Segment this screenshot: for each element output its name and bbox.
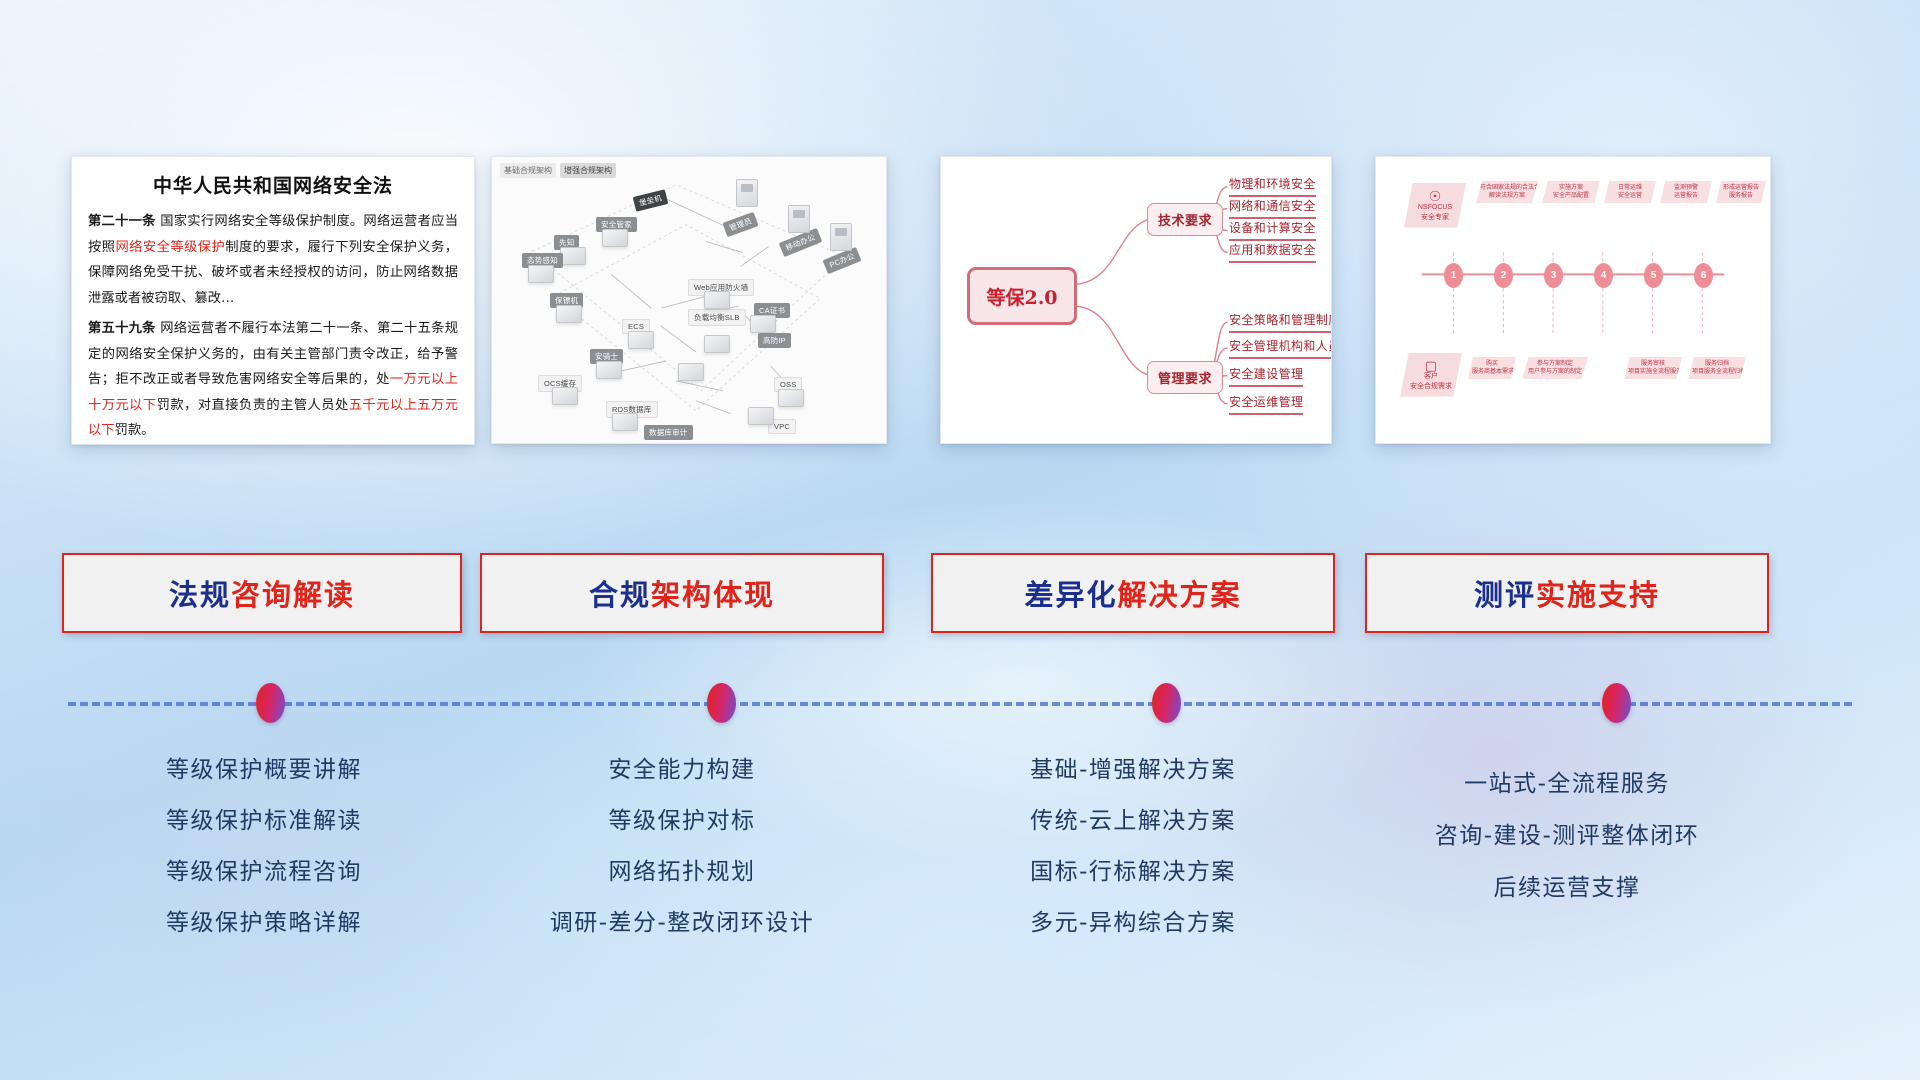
cloud-architecture-diagram: 基础合规架构 增强合规架构 — [492, 157, 886, 443]
list-item: 调研-差分-整改闭环设计 — [480, 898, 884, 949]
icon-cube — [704, 291, 730, 309]
node-anti-ddos-ip: 高防IP — [758, 333, 791, 348]
list-item: 等级保护策略详解 — [62, 898, 466, 949]
title-box-differentiated-solutions[interactable]: 差异化解决方案 — [931, 553, 1335, 633]
title-prefix: 差异化 — [1024, 578, 1117, 612]
icon-cube — [528, 265, 554, 283]
icon-server — [788, 205, 810, 233]
chip-label: 运营报告 — [1664, 192, 1708, 200]
list-item: 网络拓扑规划 — [480, 847, 884, 898]
thumbnail-card-nsfocus-timeline[interactable]: ☉ NSFOCUS 安全专家 符合国家法规的合法合规 解读法规方案 实施方案 安… — [1375, 156, 1771, 444]
chip-label: 安全产品配置 — [1546, 192, 1596, 200]
mindmap-leaf: 安全策略和管理制度 — [1229, 311, 1332, 333]
icon-cube — [612, 413, 638, 431]
list-item: 传统-云上解决方案 — [931, 796, 1335, 847]
law-article-21-label: 第二十一条 — [88, 214, 156, 229]
law-article-21-highlight: 网络安全等级保护 — [115, 240, 225, 255]
law-article-59: 第五十九条 网络运营者不履行本法第二十一条、第二十五条规定的网络安全保护义务的，… — [88, 316, 458, 444]
timeline-step-marker-6: 6 — [1694, 263, 1713, 288]
chip-label: 解读法规方案 — [1480, 192, 1534, 200]
mindmap-leaf: 设备和计算安全 — [1229, 219, 1316, 241]
infographic-stage: 中华人民共和国网络安全法 第二十一条 国家实行网络安全等级保护制度。网络运营者应… — [0, 0, 1920, 1080]
list-item: 咨询-建设-测评整体闭环 — [1365, 810, 1769, 862]
chip-tiny: 项目实施全流程服务跟踪 — [1628, 368, 1678, 376]
chip-service-archive: 服务归档 项目服务全流程归档管理 — [1688, 357, 1746, 379]
timeline-step-marker-5: 5 — [1644, 263, 1663, 288]
icon-cube — [748, 407, 774, 425]
list-item: 等级保护对标 — [480, 796, 884, 847]
icon-cube — [750, 315, 776, 333]
bullet-list-assessment-support: 一站式-全流程服务 咨询-建设-测评整体闭环 后续运营支撑 — [1365, 758, 1769, 914]
icon-cube — [628, 331, 654, 349]
list-item: 多元-异构综合方案 — [931, 898, 1335, 949]
timeline-dot-3[interactable] — [1152, 683, 1181, 723]
mindmap-leaf: 网络和通信安全 — [1229, 197, 1316, 219]
list-item: 后续运营支撑 — [1365, 862, 1769, 914]
title-text: 差异化解决方案 — [1024, 572, 1241, 614]
law-article-59-text-3: 罚款。 — [115, 423, 155, 438]
mindmap-leaf: 安全建设管理 — [1229, 365, 1303, 387]
chip-step-3: 日常运维 安全运营 — [1604, 181, 1656, 203]
chip-label: 服务报告 — [1720, 192, 1762, 200]
icon-cube — [560, 247, 586, 265]
chip-tiny: 用户参与方案的制定 — [1526, 368, 1584, 376]
bullet-list-compliance-architecture: 安全能力构建 等级保护对标 网络拓扑规划 调研-差分-整改闭环设计 — [480, 745, 884, 949]
title-suffix: 架构体现 — [651, 578, 775, 612]
bullet-list-differentiated-solutions: 基础-增强解决方案 传统-云上解决方案 国标-行标解决方案 多元-异构综合方案 — [931, 745, 1335, 949]
timeline-track — [0, 683, 1920, 723]
chip-tiny: 项目服务全流程归档管理 — [1692, 368, 1742, 376]
chip-label: 参与方案制定 — [1526, 360, 1584, 368]
timeline-dot-4[interactable] — [1602, 683, 1631, 723]
chip-tiny: 形成运营报告 — [1720, 184, 1762, 192]
list-item: 安全能力构建 — [480, 745, 884, 796]
icon-cube — [602, 229, 628, 247]
chip-service-audit: 服务审核 项目实施全流程服务跟踪 — [1624, 357, 1682, 379]
mindmap-dengbao-2: 等保2.0 技术要求 管理要求 物理和环境安全 网络和通信安全 设备和计算安全 … — [941, 157, 1331, 443]
icon-cube — [596, 361, 622, 379]
title-prefix: 法规 — [169, 578, 231, 612]
chip-tiny: 监测预警 — [1664, 184, 1708, 192]
mindmap-branch-management: 管理要求 — [1147, 361, 1223, 394]
title-prefix: 合规 — [589, 578, 651, 612]
title-text: 合规架构体现 — [589, 572, 775, 614]
chip-tiny: 实施方案 — [1546, 184, 1596, 192]
chip-label: 购买 — [1472, 360, 1512, 368]
icon-cube — [678, 363, 704, 381]
law-article-21: 第二十一条 国家实行网络安全等级保护制度。网络运营者应当按照网络安全等级保护制度… — [88, 209, 458, 311]
list-item: 基础-增强解决方案 — [931, 745, 1335, 796]
expert-brand: NSFOCUS — [1404, 203, 1466, 213]
icon-cube — [778, 389, 804, 407]
timeline-dot-2[interactable] — [707, 683, 736, 723]
list-item: 等级保护流程咨询 — [62, 847, 466, 898]
mindmap-root: 等保2.0 — [967, 267, 1077, 325]
chip-tiny: 服务商基本需求和确认 — [1472, 368, 1512, 376]
title-text: 法规咨询解读 — [169, 572, 355, 614]
thumbnail-card-cybersecurity-law[interactable]: 中华人民共和国网络安全法 第二十一条 国家实行网络安全等级保护制度。网络运营者应… — [71, 156, 475, 445]
title-box-compliance-architecture[interactable]: 合规架构体现 — [480, 553, 884, 633]
thumbnail-card-cloud-architecture[interactable]: 基础合规架构 增强合规架构 — [491, 156, 887, 444]
chip-label: 服务归档 — [1692, 360, 1742, 368]
column-differentiated-solutions: 等保2.0 技术要求 管理要求 物理和环境安全 网络和通信安全 设备和计算安全 … — [955, 0, 1355, 1080]
expert-role: 安全专家 — [1404, 213, 1466, 223]
mindmap-leaf: 安全运维管理 — [1229, 393, 1303, 415]
customer-icon: ▢ — [1400, 359, 1462, 372]
chip-step-1: 符合国家法规的合法合规 解读法规方案 — [1476, 181, 1538, 203]
node-slb: 负载均衡SLB — [688, 309, 746, 326]
law-document: 中华人民共和国网络安全法 第二十一条 国家实行网络安全等级保护制度。网络运营者应… — [72, 157, 474, 445]
chip-label: 安全运营 — [1608, 192, 1652, 200]
customer-note: 安全合规需求 — [1400, 382, 1462, 392]
chip-tiny: 符合国家法规的合法合规 — [1480, 184, 1534, 192]
mindmap-leaf: 安全管理机构和人员 — [1229, 337, 1332, 359]
title-text: 测评实施支持 — [1474, 572, 1660, 614]
expert-icon: ☉ — [1404, 189, 1466, 203]
list-item: 一站式-全流程服务 — [1365, 758, 1769, 810]
timeline-dashed-line — [68, 702, 1852, 706]
title-box-assessment-support[interactable]: 测评实施支持 — [1365, 553, 1769, 633]
title-box-regulation-consulting[interactable]: 法规咨询解读 — [62, 553, 462, 633]
timeline-step-marker-4: 4 — [1594, 263, 1613, 288]
node-database-audit: 数据库审计 — [644, 425, 693, 440]
law-heading: 中华人民共和国网络安全法 — [88, 171, 458, 198]
title-prefix: 测评 — [1474, 578, 1536, 612]
timeline-step-marker-2: 2 — [1494, 263, 1513, 288]
icon-cube — [556, 305, 582, 323]
icon-cube — [704, 335, 730, 353]
column-regulation-consulting: 中华人民共和国网络安全法 第二十一条 国家实行网络安全等级保护制度。网络运营者应… — [58, 0, 458, 1080]
title-suffix: 咨询解读 — [231, 578, 355, 612]
bullet-list-regulation-consulting: 等级保护概要讲解 等级保护标准解读 等级保护流程咨询 等级保护策略详解 — [62, 745, 466, 949]
customer-role: 客户 — [1400, 372, 1462, 382]
chip-step-5: 形成运营报告 服务报告 — [1716, 181, 1766, 203]
icon-server — [830, 223, 852, 251]
mindmap-leaf: 应用和数据安全 — [1229, 241, 1316, 263]
title-suffix: 解决方案 — [1118, 578, 1242, 612]
persona-nsfocus-expert: ☉ NSFOCUS 安全专家 — [1404, 183, 1466, 228]
chip-step-4: 监测预警 运营报告 — [1660, 181, 1712, 203]
chip-tiny: 日常运维 — [1608, 184, 1652, 192]
list-item: 等级保护概要讲解 — [62, 745, 466, 796]
law-article-59-label: 第五十九条 — [88, 321, 156, 336]
timeline-dot-1[interactable] — [256, 683, 285, 723]
persona-customer: ▢ 客户 安全合规需求 — [1400, 353, 1462, 397]
thumbnail-card-mindmap[interactable]: 等保2.0 技术要求 管理要求 物理和环境安全 网络和通信安全 设备和计算安全 … — [940, 156, 1332, 444]
list-item: 国标-行标解决方案 — [931, 847, 1335, 898]
mindmap-branch-technical: 技术要求 — [1147, 203, 1223, 236]
column-compliance-architecture: 基础合规架构 增强合规架构 — [505, 0, 905, 1080]
icon-cube — [552, 387, 578, 405]
list-item: 等级保护标准解读 — [62, 796, 466, 847]
timeline-step-marker-1: 1 — [1444, 263, 1463, 288]
chip-participate-plan: 参与方案制定 用户参与方案的制定 — [1522, 357, 1588, 379]
icon-server — [736, 179, 758, 207]
chip-label: 服务审核 — [1628, 360, 1678, 368]
mindmap-leaf: 物理和环境安全 — [1229, 175, 1316, 197]
column-assessment-support: ☉ NSFOCUS 安全专家 符合国家法规的合法合规 解读法规方案 实施方案 安… — [1385, 0, 1785, 1080]
nsfocus-service-timeline: ☉ NSFOCUS 安全专家 符合国家法规的合法合规 解读法规方案 实施方案 安… — [1376, 157, 1770, 443]
timeline-step-marker-3: 3 — [1544, 263, 1563, 288]
law-article-59-text-2: 罚款，对直接负责的主管人员处 — [157, 398, 349, 413]
chip-purchase: 购买 服务商基本需求和确认 — [1468, 357, 1516, 379]
chip-step-2: 实施方案 安全产品配置 — [1542, 181, 1600, 203]
title-suffix: 实施支持 — [1536, 578, 1660, 612]
